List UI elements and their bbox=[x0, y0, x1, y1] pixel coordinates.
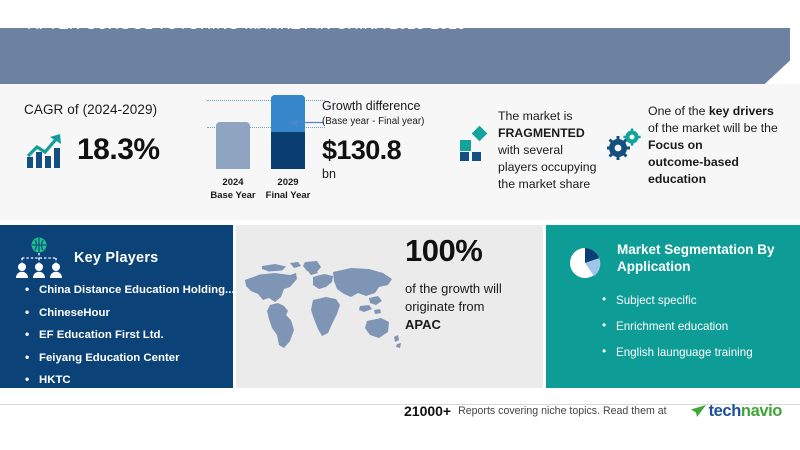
list-item: China Distance Education Holding... bbox=[25, 283, 240, 297]
segmentation-list: Subject specific Enrichment education En… bbox=[602, 293, 787, 371]
fragmented-line-4: the market share bbox=[498, 176, 596, 193]
region-line-2: originate from bbox=[405, 298, 540, 316]
growth-bar-chart: 2024 Base Year 2029 Final Year bbox=[205, 97, 330, 202]
pie-chart-icon bbox=[566, 243, 606, 283]
world-map-icon bbox=[238, 258, 403, 358]
cagr-block: CAGR of (2024-2029) 18.3% bbox=[24, 102, 209, 170]
bar-label-base-sub: Base Year bbox=[203, 189, 263, 202]
drivers-line-1: One of the key drivers bbox=[648, 103, 778, 120]
bar-label-final-sub: Final Year bbox=[258, 189, 318, 202]
annotation-arrow-icon bbox=[290, 114, 324, 123]
growth-difference-title: Growth difference bbox=[322, 99, 462, 114]
infographic-page: AFTER-SCHOOL TUTORING MARKET IN CHINA 20… bbox=[0, 0, 800, 450]
key-players-list: China Distance Education Holding... Chin… bbox=[25, 283, 240, 396]
drivers-line-2: of the market will be the bbox=[648, 120, 778, 137]
logo-text-navio: navio bbox=[741, 402, 782, 421]
drivers-bold-2: outcome-based bbox=[648, 154, 778, 171]
segmentation-title: Market Segmentation By Application bbox=[617, 241, 782, 275]
paper-plane-icon bbox=[691, 405, 706, 418]
cagr-label: CAGR of (2024-2029) bbox=[24, 102, 209, 117]
list-item: Subject specific bbox=[602, 293, 787, 308]
logo-text-tech: tech bbox=[709, 402, 741, 421]
key-players-header: Key Players bbox=[14, 237, 158, 279]
gears-icon bbox=[607, 127, 641, 161]
list-item: English launguage training bbox=[602, 345, 787, 360]
growth-difference-block: Growth difference (Base year - Final yea… bbox=[322, 99, 462, 181]
fragmented-line-1: The market is bbox=[498, 108, 596, 125]
report-count: 21000+ bbox=[404, 403, 451, 419]
drivers-bold-1: Focus on bbox=[648, 137, 778, 154]
region-stat-block: 100% of the growth will originate from A… bbox=[405, 233, 540, 334]
key-drivers-text: One of the key drivers of the market wil… bbox=[648, 103, 778, 188]
bar-final-year bbox=[271, 95, 305, 169]
footer: 21000+ Reports covering niche topics. Re… bbox=[0, 398, 800, 424]
footer-text: Reports covering niche topics. Read them… bbox=[458, 405, 666, 417]
region-name: APAC bbox=[405, 316, 540, 334]
list-item: EF Education First Ltd. bbox=[25, 328, 240, 342]
key-drivers-block: One of the key drivers of the market wil… bbox=[607, 103, 792, 188]
header-bar bbox=[0, 28, 790, 84]
growth-difference-subtitle: (Base year - Final year) bbox=[322, 115, 462, 128]
region-percent: 100% bbox=[405, 233, 540, 269]
list-item: HKTC bbox=[25, 373, 240, 387]
fragmented-emphasis: FRAGMENTED bbox=[498, 125, 596, 142]
list-item: Feiyang Education Center bbox=[25, 351, 240, 365]
cagr-value: 18.3% bbox=[77, 133, 160, 167]
page-title: AFTER-SCHOOL TUTORING MARKET IN CHINA 20… bbox=[28, 16, 466, 34]
bar-label-final: 2029 Final Year bbox=[258, 176, 318, 202]
key-players-title: Key Players bbox=[74, 250, 158, 266]
bar-label-base: 2024 Base Year bbox=[203, 176, 263, 202]
growth-amount: $130.8 bbox=[322, 135, 462, 166]
squares-diamond-icon bbox=[460, 126, 490, 162]
region-line-1: of the growth will bbox=[405, 280, 540, 298]
bar-label-base-year: 2024 bbox=[203, 176, 263, 189]
list-item: ChineseHour bbox=[25, 306, 240, 320]
technavio-logo[interactable]: tech navio bbox=[691, 402, 782, 421]
segmentation-header: Market Segmentation By Application bbox=[566, 241, 782, 283]
list-item: Enrichment education bbox=[602, 319, 787, 334]
people-network-icon bbox=[14, 237, 64, 279]
drivers-bold-3: education bbox=[648, 171, 778, 188]
region-description: of the growth will originate from APAC bbox=[405, 280, 540, 334]
market-fragmented-text: The market is FRAGMENTED with several pl… bbox=[498, 108, 596, 193]
growth-unit: bn bbox=[322, 167, 462, 181]
fragmented-line-2: with several bbox=[498, 142, 596, 159]
gridline-final bbox=[207, 100, 325, 101]
segmentation-panel: Market Segmentation By Application Subje… bbox=[546, 225, 800, 388]
fragmented-line-3: players occupying bbox=[498, 159, 596, 176]
bar-chart-growth-icon bbox=[24, 130, 68, 170]
bar-label-final-year: 2029 bbox=[258, 176, 318, 189]
bar-base-year bbox=[216, 122, 250, 169]
key-players-panel: Key Players China Distance Education Hol… bbox=[0, 225, 233, 388]
market-fragmented-block: The market is FRAGMENTED with several pl… bbox=[460, 108, 610, 193]
